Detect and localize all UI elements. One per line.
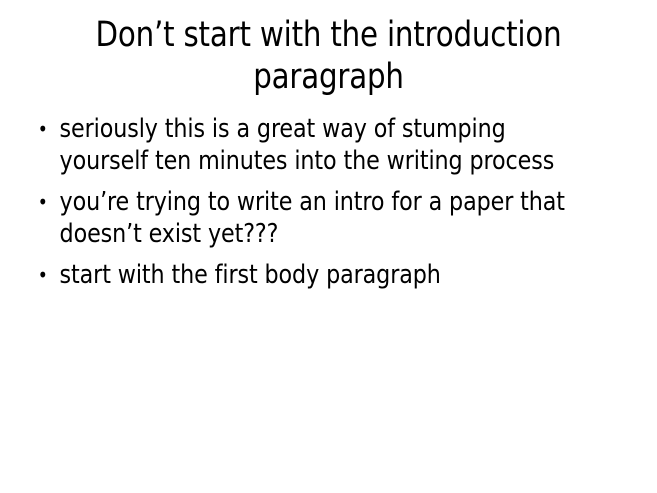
page-title: Don’t start with the introduction paragr… — [60, 14, 597, 98]
bullet-point-icon: • — [38, 259, 51, 291]
list-item-text: seriously this is a great way of stumpin… — [60, 113, 593, 177]
bullet-list: • seriously this is a great way of stump… — [32, 113, 622, 291]
presentation-slide: Don’t start with the introduction paragr… — [0, 0, 657, 493]
list-item-text: you’re trying to write an intro for a pa… — [60, 186, 593, 250]
list-item: • seriously this is a great way of stump… — [32, 113, 593, 177]
list-item: • you’re trying to write an intro for a … — [32, 186, 593, 250]
bullet-point-icon: • — [38, 113, 51, 145]
list-item: • start with the first body paragraph — [32, 259, 593, 291]
bullet-point-icon: • — [38, 186, 51, 218]
list-item-text: start with the first body paragraph — [60, 259, 593, 291]
